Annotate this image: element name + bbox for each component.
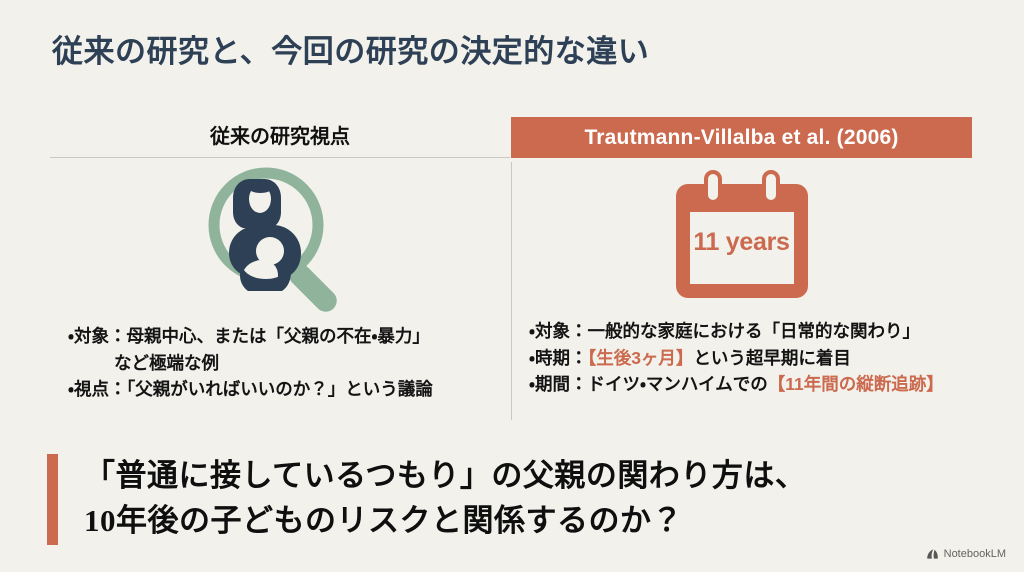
- callout-accent-bar: [47, 454, 58, 545]
- right-bullet-list: ・対象：一般的な家庭における「日常的な関わり」 ・時期：【生後3ヶ月】という超早…: [525, 318, 972, 398]
- left-bullet-list: ・対象：母親中心、または「父親の不在・暴力」 など極端な例 ・視点：「父親がいれ…: [64, 323, 510, 403]
- notebooklm-watermark: NotebookLM: [926, 548, 1006, 560]
- right-column-header: Trautmann-Villalba et al. (2006): [511, 117, 972, 158]
- right-icon-area: 11 years: [511, 158, 972, 318]
- callout-text: 「普通に接しているつもり」の父親の関わり方は、 10年後の子どものリスクと関係す…: [84, 454, 806, 544]
- list-item: ・時期：【生後3ヶ月】という超早期に着目: [529, 345, 968, 372]
- callout-line: 10年後の子どものリスクと関係するのか？: [84, 499, 806, 544]
- list-item: ・対象：母親中心、または「父親の不在・暴力」: [68, 323, 506, 350]
- list-item-highlight: 【11年間の縦断追跡】: [768, 374, 944, 394]
- list-item: ・期間：ドイツ・マンハイムでの【11年間の縦断追跡】: [529, 371, 968, 398]
- list-item: など極端な例: [68, 350, 506, 377]
- magnifier-mother-baby-icon: [204, 163, 356, 318]
- left-column-header: 従来の研究視点: [50, 112, 510, 158]
- list-item-highlight: 【生後3ヶ月】: [587, 348, 693, 368]
- list-item: ・対象：一般的な家庭における「日常的な関わり」: [529, 318, 968, 345]
- column-right: Trautmann-Villalba et al. (2006) 11 year…: [511, 112, 972, 398]
- calendar-icon: 11 years: [662, 166, 822, 311]
- bottom-callout: 「普通に接しているつもり」の父親の関わり方は、 10年後の子どものリスクと関係す…: [47, 454, 967, 545]
- notebooklm-label: NotebookLM: [944, 548, 1006, 560]
- callout-line: 「普通に接しているつもり」の父親の関わり方は、: [84, 454, 806, 499]
- list-item-text: ・時期：: [529, 348, 587, 368]
- notebooklm-logo-icon: [926, 548, 939, 560]
- list-item-text: という超早期に着目: [693, 348, 851, 368]
- left-icon-area: [50, 158, 510, 323]
- column-left: 従来の研究視点: [50, 112, 510, 403]
- list-item: ・視点：「父親がいればいいのか？」という議論: [68, 376, 506, 403]
- list-item-text: ・期間：ドイツ・マンハイムでの: [529, 374, 768, 394]
- calendar-icon-label: 11 years: [662, 166, 822, 306]
- list-item-text: ・対象：一般的な家庭における「日常的な関わり」: [529, 321, 920, 341]
- page-title: 従来の研究と、今回の研究の決定的な違い: [52, 26, 649, 71]
- slide-canvas: 従来の研究と、今回の研究の決定的な違い 従来の研究視点: [0, 0, 1024, 572]
